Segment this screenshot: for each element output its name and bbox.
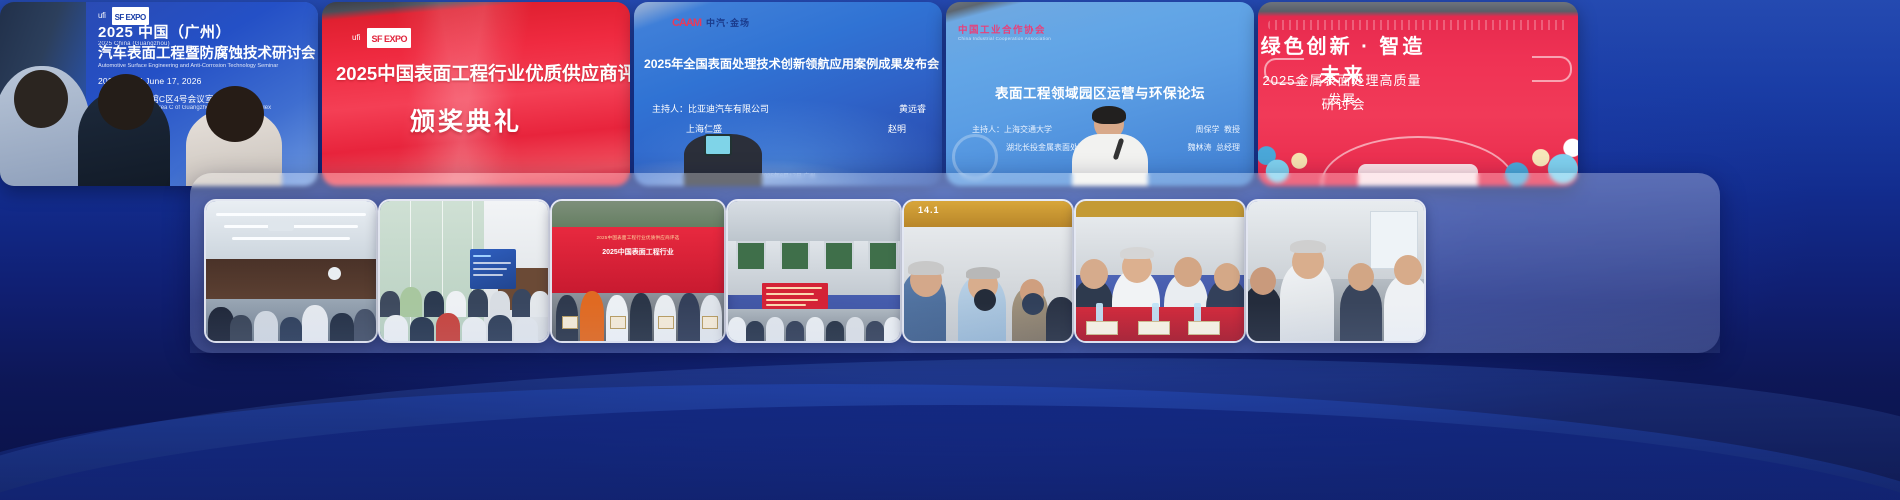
top-panel-row: ufi SF EXPO 2025 中国（广州） 2025 China (Guan…: [0, 0, 1900, 190]
panel-registration-backdrop: ufi SF EXPO 2025 中国（广州） 2025 China (Guan…: [0, 2, 318, 186]
panel4-host-person-2: 魏林涛 总经理: [1188, 142, 1240, 153]
panel3-logo-cn: 中汽·金场: [706, 16, 750, 29]
sfexpo-logo-icon: SF EXPO: [367, 28, 411, 48]
ufi-logo-icon: ufi: [98, 12, 106, 20]
event-collage-banner: ufi SF EXPO 2025 中国（广州） 2025 China (Guan…: [0, 0, 1900, 500]
panel3-title: 2025年全国表面处理技术创新领航应用案例成果发布会: [644, 54, 932, 72]
thumb3-banner-small: 2025中国表面工程行业优质供应商评选: [552, 235, 724, 241]
thumbnail-award-ceremony-stage[interactable]: 2025中国表面工程行业优质供应商评选 2025中国表面工程行业: [550, 199, 726, 343]
panel-award-ceremony-banner: ufi SF EXPO 2025中国表面工程行业优质供应商评选 颁奖典礼: [322, 2, 630, 186]
caam-logo-icon: CAAM: [672, 17, 701, 29]
lobby-board: [470, 249, 516, 289]
panel4-host-person-1: 周保学 教授: [1196, 124, 1240, 135]
thumb3-banner-big: 2025中国表面工程行业: [552, 247, 724, 257]
panel2-title: 2025中国表面工程行业优质供应商评选: [336, 60, 624, 86]
panel5-subtitle-line2: 研讨会: [1258, 94, 1430, 113]
panel3-host-person-2: 赵明: [888, 122, 906, 135]
ufi-logo-icon: ufi: [352, 34, 360, 42]
panel2-logos: ufi SF EXPO: [352, 28, 411, 48]
thumb5-hall-number: 14.1: [918, 205, 940, 215]
panel-green-innovation-seminar-banner: 绿色创新 · 智造未来 2025金属表面处理高质量发展 研讨会: [1258, 2, 1578, 186]
panel4-host-org-1: 主持人：上海交通大学: [972, 124, 1052, 135]
background-wave-3: [0, 405, 1900, 500]
background-wave-1: [0, 338, 1900, 500]
thumbnail-conference-hall-audience[interactable]: [204, 199, 378, 343]
panel1-title-cn: 2025 中国（广州）: [98, 25, 268, 41]
panel4-logo-cn: 中国工业合作协会: [958, 22, 1051, 36]
thumbnail-exhibition-hall-seminar[interactable]: [726, 199, 902, 343]
panel4-logo-en: China Industrial Cooperation Association: [958, 36, 1051, 41]
thumbnail-booth-hall-audience[interactable]: 14.1: [902, 199, 1074, 343]
panel3-host-org-1: 主持人：比亚迪汽车有限公司: [652, 102, 769, 115]
panel4-title: 表面工程领域园区运营与环保论坛: [946, 82, 1254, 102]
panel3-phone-screen-icon: [704, 134, 732, 156]
panel1-title-en: 2025 China (Guangzhou): [98, 41, 314, 47]
panel5-lace-border: [1268, 20, 1568, 30]
thumbnail-strip: 2025中国表面工程行业优质供应商评选 2025中国表面工程行业: [190, 173, 1720, 353]
panel1-subtitle-cn: 汽车表面工程暨防腐蚀技术研讨会: [98, 47, 266, 63]
panel1-logos: ufi SF EXPO: [98, 8, 314, 23]
panel-innovation-release-slide: CAAM 中汽·金场 2025年全国表面处理技术创新领航应用案例成果发布会 主持…: [634, 2, 942, 186]
thumb4-red-banner: [762, 283, 828, 309]
sfexpo-logo-icon: SF EXPO: [112, 7, 149, 25]
panel-park-operation-forum-slide: 中国工业合作协会 China Industrial Cooperation As…: [946, 2, 1254, 186]
thumbnail-crowded-hall[interactable]: [1246, 199, 1426, 343]
panel4-association-logo: 中国工业合作协会 China Industrial Cooperation As…: [958, 22, 1051, 41]
projector-icon: [268, 221, 294, 231]
panel3-logo: CAAM 中汽·金场: [672, 16, 750, 29]
panel2-subtitle: 颁奖典礼: [410, 102, 522, 138]
background-wave-2: [0, 369, 1900, 500]
cloud-icon-right: [1532, 56, 1572, 82]
panel3-host-person-1: 黄远睿: [899, 102, 926, 115]
clock-icon: [328, 267, 341, 280]
thumbnail-delegates-red-table[interactable]: [1074, 199, 1246, 343]
panel1-people: [0, 66, 318, 186]
thumbnail-group-photo-lobby[interactable]: [378, 199, 550, 343]
panel3-host-row-1: 主持人：比亚迪汽车有限公司 黄远睿: [652, 102, 926, 115]
